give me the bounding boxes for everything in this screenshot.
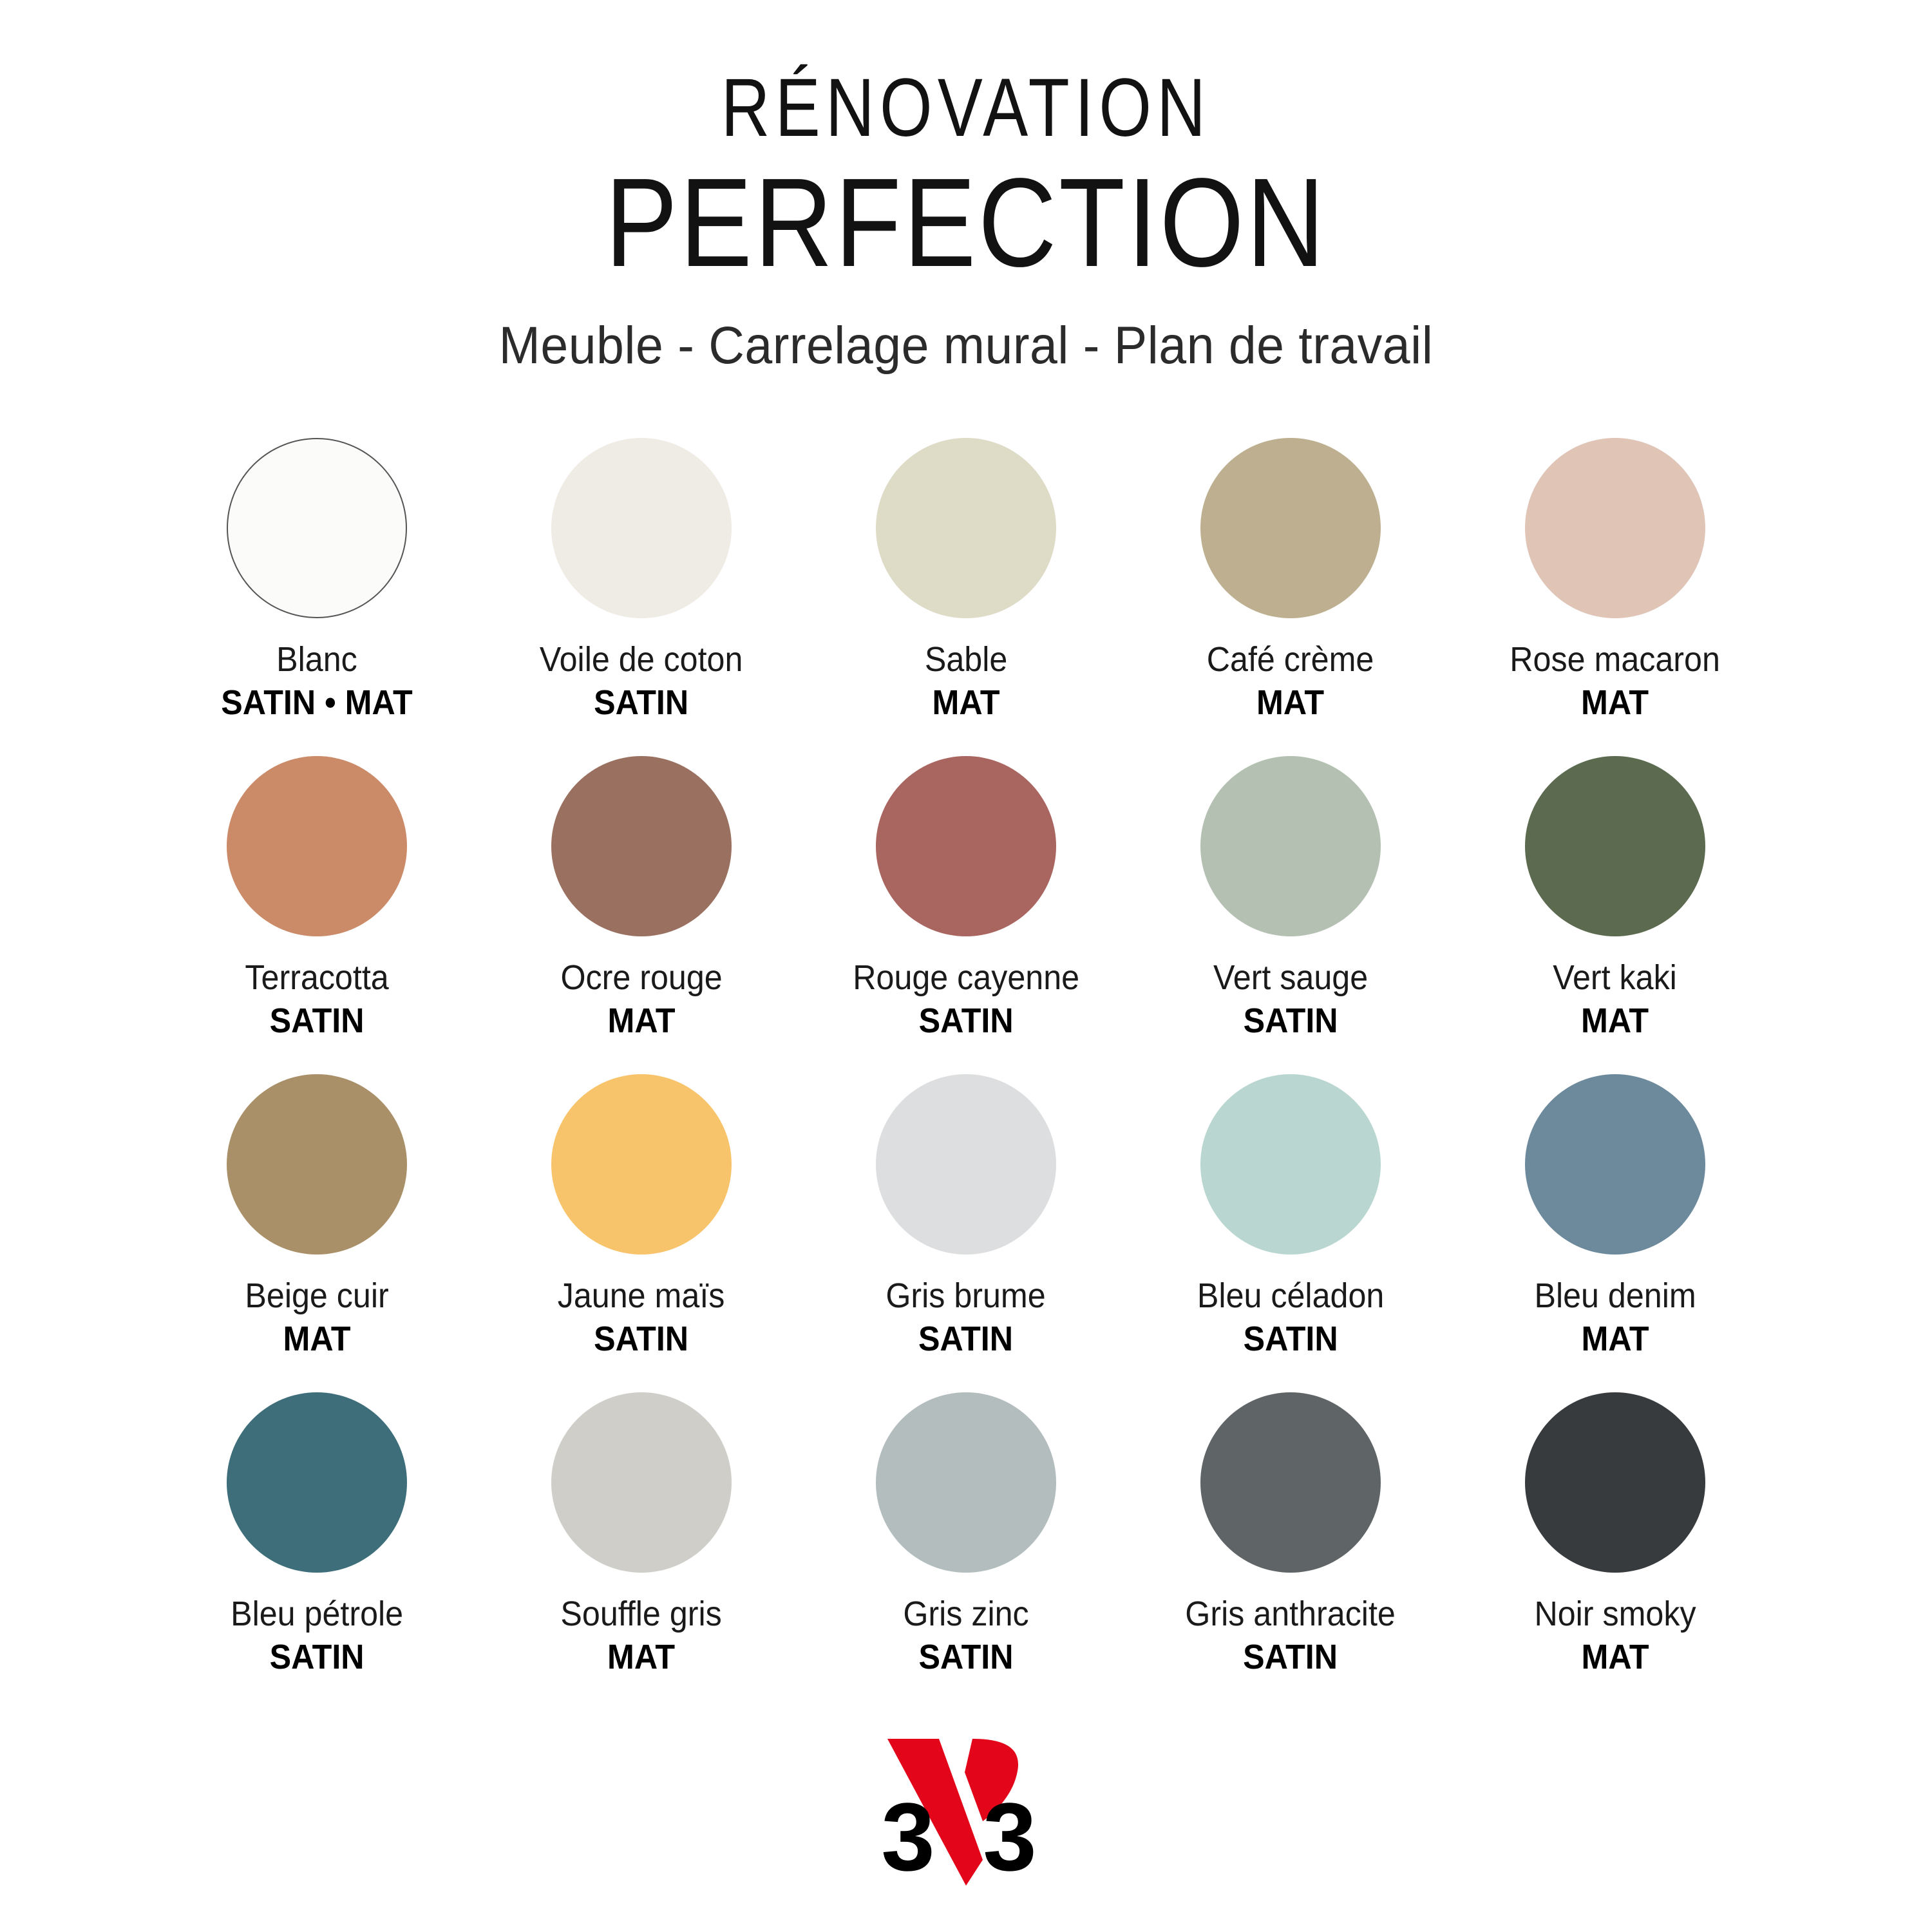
color-swatch-caption: SableMAT bbox=[922, 640, 1010, 723]
color-swatch-dot[interactable] bbox=[1525, 1074, 1705, 1255]
color-swatch-dot[interactable] bbox=[1525, 1392, 1705, 1573]
color-swatch-caption: Gris zincSATIN bbox=[898, 1595, 1034, 1677]
color-swatch-item[interactable]: TerracottaSATIN bbox=[155, 756, 479, 1041]
logo-digit-right: 3 bbox=[983, 1783, 1036, 1891]
color-swatch-dot[interactable] bbox=[551, 438, 732, 618]
color-swatch-finish: SATIN bbox=[540, 683, 743, 723]
color-swatch-item[interactable]: Bleu céladonSATIN bbox=[1128, 1074, 1453, 1359]
color-swatch-name: Gris zinc bbox=[903, 1595, 1028, 1634]
color-swatch-caption: Gris brumeSATIN bbox=[880, 1276, 1052, 1359]
color-swatch-dot[interactable] bbox=[876, 756, 1056, 936]
color-swatch-item[interactable]: Jaune maïsSATIN bbox=[479, 1074, 804, 1359]
color-swatch-dot[interactable] bbox=[1200, 1074, 1381, 1255]
color-swatch-finish: MAT bbox=[1534, 1320, 1696, 1359]
color-swatch-name: Jaune maïs bbox=[558, 1276, 725, 1316]
color-swatch-name: Rouge cayenne bbox=[853, 958, 1079, 998]
color-swatch-finish: SATIN bbox=[1213, 1001, 1368, 1041]
color-swatch-dot[interactable] bbox=[551, 1074, 732, 1255]
color-swatch-name: Sable bbox=[925, 640, 1007, 679]
color-swatch-finish: MAT bbox=[1534, 1638, 1696, 1677]
color-swatch-item[interactable]: Gris zincSATIN bbox=[804, 1392, 1128, 1677]
color-swatch-caption: Voile de cotonSATIN bbox=[532, 640, 750, 723]
color-swatch-finish: MAT bbox=[245, 1320, 388, 1359]
color-swatch-caption: Rose macaronMAT bbox=[1502, 640, 1728, 723]
color-swatch-caption: TerracottaSATIN bbox=[240, 958, 394, 1041]
color-swatch-caption: Gris anthraciteSATIN bbox=[1177, 1595, 1403, 1677]
color-swatch-finish: MAT bbox=[561, 1638, 722, 1677]
page-subtitle: Meuble - Carrelage mural - Plan de trava… bbox=[58, 316, 1874, 376]
color-swatch-caption: Bleu céladonSATIN bbox=[1190, 1276, 1391, 1359]
color-swatch-finish: SATIN bbox=[853, 1001, 1079, 1041]
color-swatch-dot[interactable] bbox=[876, 1074, 1056, 1255]
color-swatch-finish: MAT bbox=[925, 683, 1007, 723]
color-swatch-caption: Ocre rougeMAT bbox=[554, 958, 728, 1041]
color-swatch-caption: Bleu denimMAT bbox=[1528, 1276, 1702, 1359]
color-swatch-finish: MAT bbox=[560, 1001, 722, 1041]
color-swatch-dot[interactable] bbox=[227, 438, 407, 618]
color-swatch-dot[interactable] bbox=[227, 756, 407, 936]
color-swatch-caption: Vert saugeSATIN bbox=[1207, 958, 1374, 1041]
color-swatch-name: Gris brume bbox=[886, 1276, 1046, 1316]
color-swatch-item[interactable]: Souffle grisMAT bbox=[479, 1392, 804, 1677]
color-swatch-item[interactable]: Voile de cotonSATIN bbox=[479, 438, 804, 723]
color-swatch-finish: SATIN bbox=[231, 1638, 403, 1677]
color-swatch-name: Souffle gris bbox=[561, 1595, 722, 1634]
color-chart-page: RÉNOVATION PERFECTION Meuble - Carrelage… bbox=[0, 0, 1932, 1932]
color-swatch-finish: MAT bbox=[1553, 1001, 1678, 1041]
color-swatch-finish: SATIN bbox=[886, 1320, 1046, 1359]
color-swatch-finish: MAT bbox=[1207, 683, 1374, 723]
color-swatch-caption: Beige cuirMAT bbox=[240, 1276, 394, 1359]
color-swatch-name: Voile de coton bbox=[540, 640, 743, 679]
color-swatch-item[interactable]: Gris brumeSATIN bbox=[804, 1074, 1128, 1359]
v33-logo: 3 3 bbox=[869, 1734, 1063, 1908]
color-swatch-name: Terracotta bbox=[245, 958, 388, 998]
header: RÉNOVATION PERFECTION Meuble - Carrelage… bbox=[0, 67, 1932, 376]
color-swatch-item[interactable]: Gris anthraciteSATIN bbox=[1128, 1392, 1453, 1677]
color-swatch-dot[interactable] bbox=[1525, 756, 1705, 936]
color-swatch-finish: SATIN bbox=[245, 1001, 388, 1041]
color-swatch-dot[interactable] bbox=[876, 1392, 1056, 1573]
color-swatch-finish: MAT bbox=[1510, 683, 1721, 723]
color-swatch-dot[interactable] bbox=[227, 1074, 407, 1255]
color-swatch-dot[interactable] bbox=[1200, 438, 1381, 618]
color-swatch-item[interactable]: Bleu denimMAT bbox=[1453, 1074, 1777, 1359]
color-swatch-item[interactable]: BlancSATIN • MAT bbox=[155, 438, 479, 723]
color-swatch-name: Gris anthracite bbox=[1186, 1595, 1396, 1634]
color-swatch-dot[interactable] bbox=[227, 1392, 407, 1573]
color-swatch-item[interactable]: Beige cuirMAT bbox=[155, 1074, 479, 1359]
color-swatch-item[interactable]: Bleu pétroleSATIN bbox=[155, 1392, 479, 1677]
color-swatch-name: Bleu denim bbox=[1534, 1276, 1696, 1316]
color-swatch-name: Beige cuir bbox=[245, 1276, 388, 1316]
color-swatch-caption: Souffle grisMAT bbox=[554, 1595, 728, 1677]
color-swatch-name: Ocre rouge bbox=[560, 958, 722, 998]
color-swatch-dot[interactable] bbox=[551, 1392, 732, 1573]
color-swatch-item[interactable]: Rose macaronMAT bbox=[1453, 438, 1777, 723]
color-swatch-caption: Bleu pétroleSATIN bbox=[224, 1595, 410, 1677]
color-swatch-name: Vert kaki bbox=[1553, 958, 1678, 998]
page-title-line1: RÉNOVATION bbox=[174, 67, 1758, 149]
color-swatch-caption: Vert kakiMAT bbox=[1548, 958, 1681, 1041]
color-swatch-name: Rose macaron bbox=[1510, 640, 1721, 679]
color-swatch-finish: SATIN bbox=[1186, 1638, 1396, 1677]
color-swatch-grid: BlancSATIN • MATVoile de cotonSATINSable… bbox=[155, 438, 1777, 1677]
color-swatch-caption: BlancSATIN • MAT bbox=[214, 640, 420, 723]
color-swatch-dot[interactable] bbox=[876, 438, 1056, 618]
color-swatch-item[interactable]: Café crèmeMAT bbox=[1128, 438, 1453, 723]
color-swatch-item[interactable]: Vert kakiMAT bbox=[1453, 756, 1777, 1041]
color-swatch-finish: SATIN bbox=[1197, 1320, 1384, 1359]
color-swatch-caption: Rouge cayenneSATIN bbox=[844, 958, 1088, 1041]
color-swatch-name: Vert sauge bbox=[1213, 958, 1368, 998]
color-swatch-caption: Noir smokyMAT bbox=[1528, 1595, 1702, 1677]
color-swatch-name: Blanc bbox=[221, 640, 412, 679]
color-swatch-name: Café crème bbox=[1207, 640, 1374, 679]
color-swatch-item[interactable]: Rouge cayenneSATIN bbox=[804, 756, 1128, 1041]
color-swatch-caption: Jaune maïsSATIN bbox=[551, 1276, 731, 1359]
color-swatch-finish: SATIN bbox=[903, 1638, 1028, 1677]
color-swatch-item[interactable]: SableMAT bbox=[804, 438, 1128, 723]
color-swatch-name: Bleu céladon bbox=[1197, 1276, 1384, 1316]
color-swatch-name: Noir smoky bbox=[1534, 1595, 1696, 1634]
color-swatch-item[interactable]: Ocre rougeMAT bbox=[479, 756, 804, 1041]
logo-digit-left: 3 bbox=[881, 1783, 934, 1891]
color-swatch-name: Bleu pétrole bbox=[231, 1595, 403, 1634]
color-swatch-finish: SATIN • MAT bbox=[221, 683, 412, 723]
color-swatch-dot[interactable] bbox=[1525, 438, 1705, 618]
v33-logo-mark: 3 3 bbox=[869, 1734, 1063, 1908]
page-title-line2: PERFECTION bbox=[135, 158, 1797, 287]
color-swatch-item[interactable]: Noir smokyMAT bbox=[1453, 1392, 1777, 1677]
color-swatch-dot[interactable] bbox=[1200, 1392, 1381, 1573]
color-swatch-item[interactable]: Vert saugeSATIN bbox=[1128, 756, 1453, 1041]
color-swatch-dot[interactable] bbox=[551, 756, 732, 936]
color-swatch-finish: SATIN bbox=[558, 1320, 725, 1359]
color-swatch-caption: Café crèmeMAT bbox=[1200, 640, 1380, 723]
color-swatch-dot[interactable] bbox=[1200, 756, 1381, 936]
